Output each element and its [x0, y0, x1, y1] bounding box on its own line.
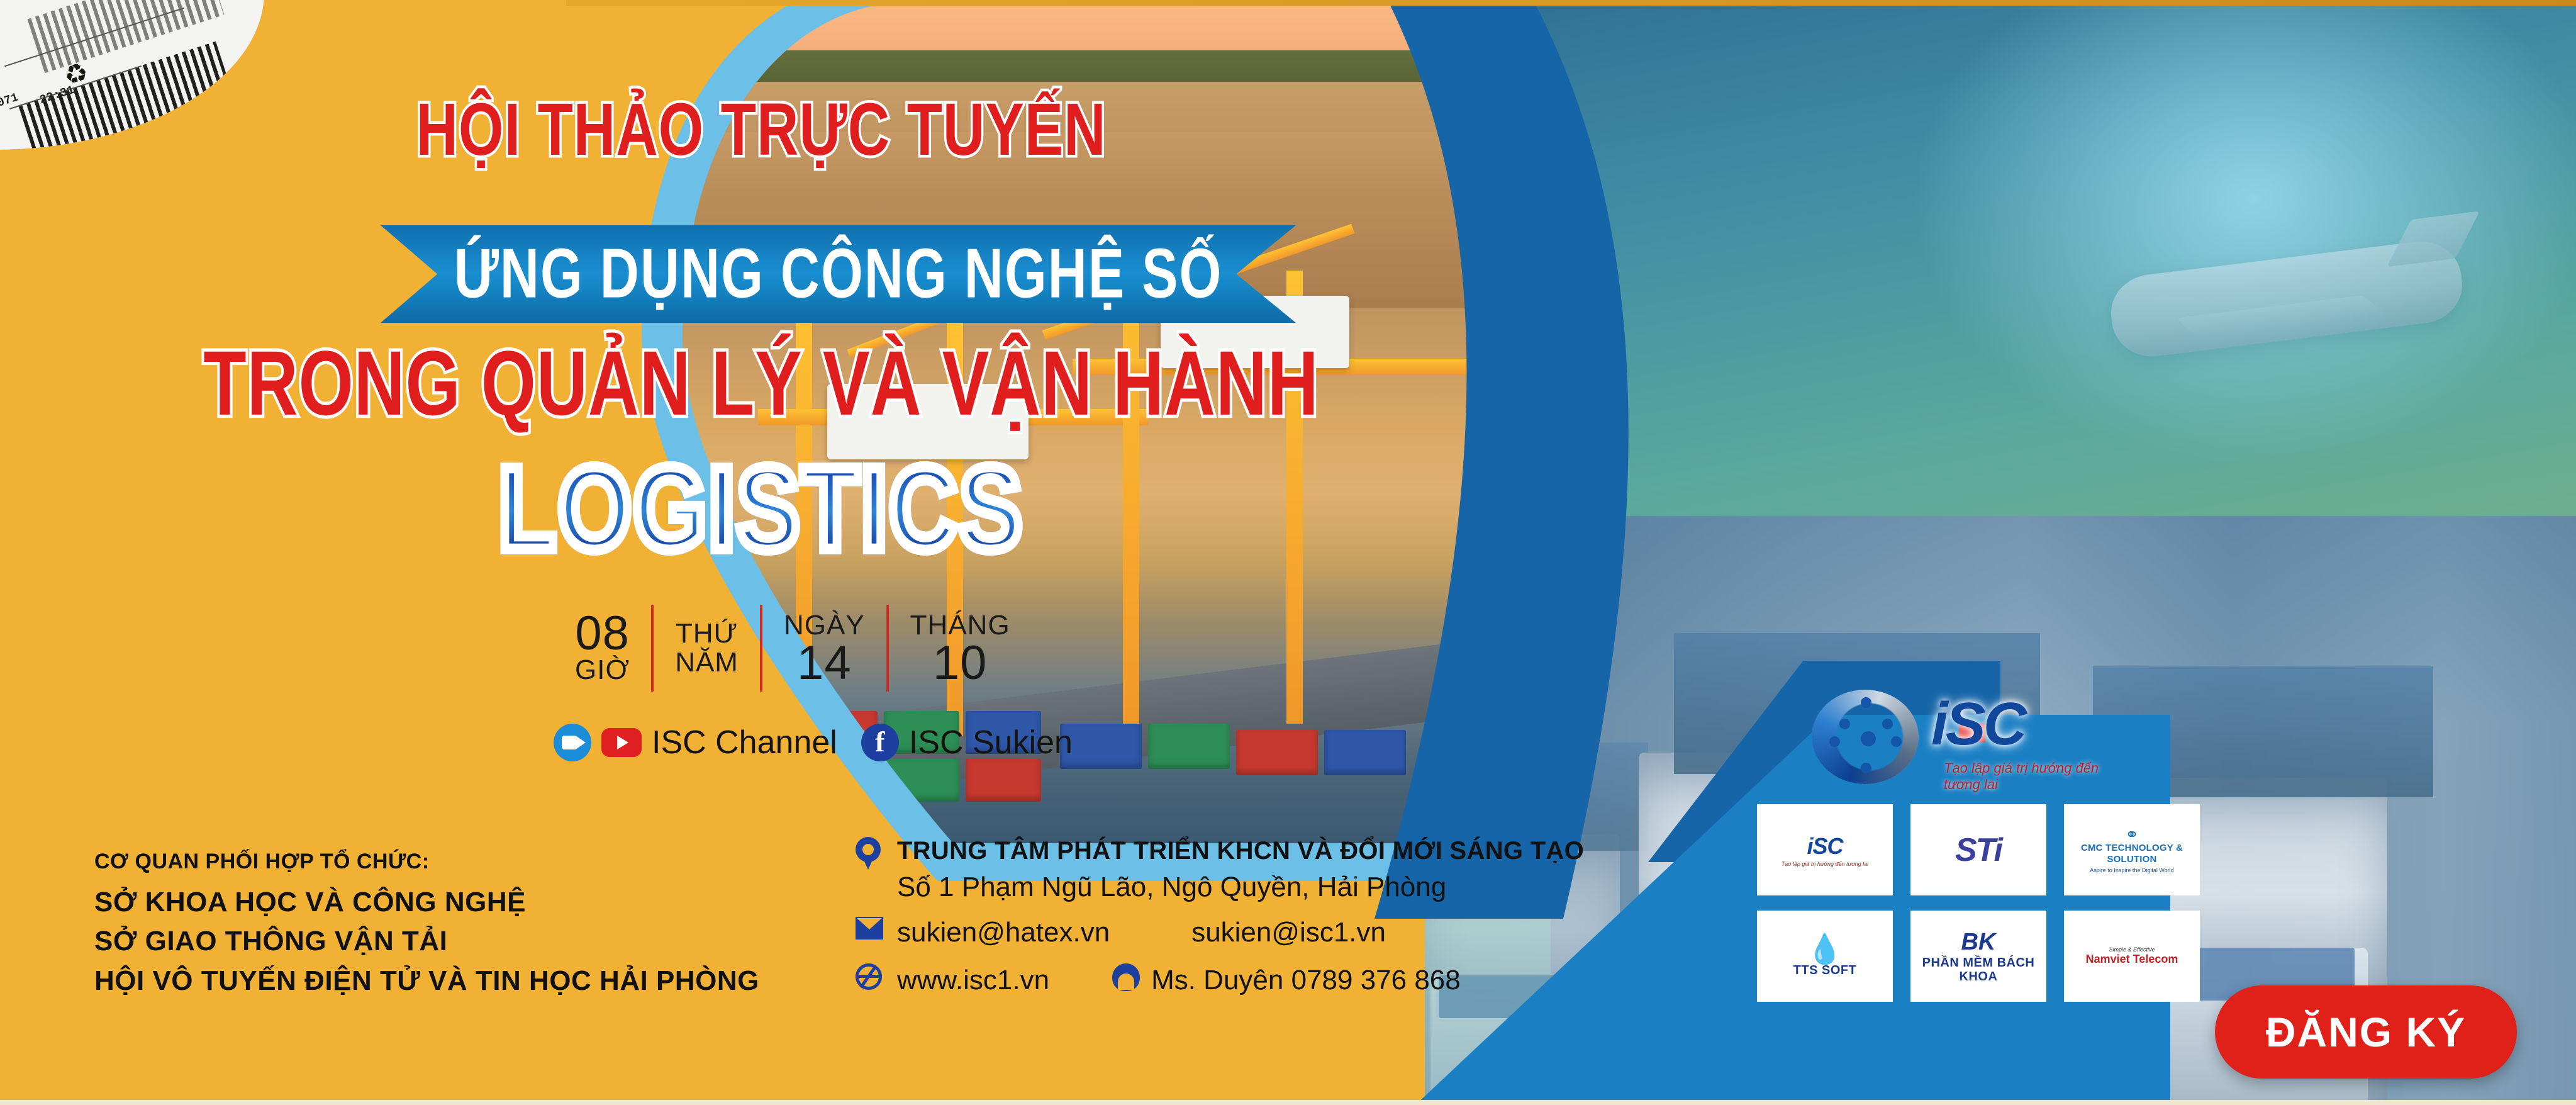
sponsor-card-tts-soft[interactable]: 💧 TTS SOFT	[1757, 911, 1893, 1002]
container	[720, 759, 796, 802]
bach-khoa-logo-mark: BK	[1961, 929, 1996, 956]
container	[966, 759, 1041, 802]
weekday-cell: THỨ NĂM	[654, 601, 760, 695]
ribbon-label: ỨNG DỤNG CÔNG NGHỆ SỐ	[381, 211, 1296, 338]
sponsor-logo-grid: iSC Tạo lập giá trị hướng đến tương lai …	[1757, 804, 2200, 1002]
contact-address: Số 1 Phạm Ngũ Lão, Ngô Quyền, Hải Phòng	[897, 872, 1584, 903]
facebook-page-label[interactable]: ISC Sukien	[909, 724, 1073, 761]
organizers-caption: CƠ QUAN PHỐI HỢP TỔ CHỨC:	[94, 850, 759, 874]
bach-khoa-logo-name: PHẦN MỀM BÁCH KHOA	[1915, 956, 2041, 984]
tts-soft-logo-icon: 💧	[1807, 934, 1843, 963]
envelope-icon	[856, 917, 883, 951]
sponsor-card-cmc[interactable]: ⚭ CMC TECHNOLOGY & SOLUTION Aspire to In…	[2064, 804, 2200, 895]
ribbon-banner: ỨNG DỤNG CÔNG NGHỆ SỐ	[381, 225, 1296, 323]
sponsor-card-isc[interactable]: iSC Tạo lập giá trị hướng đến tương lai	[1757, 804, 1893, 895]
contact-center-name: TRUNG TÂM PHÁT TRIỂN KHCN VÀ ĐỔI MỚI SÁN…	[897, 837, 1584, 865]
sponsor-card-namviet[interactable]: Simple & Effective Namviet Telecom	[2064, 911, 2200, 1002]
bottom-strip	[0, 1100, 2576, 1105]
register-button[interactable]: ĐĂNG KÝ	[2215, 985, 2517, 1079]
isc-logo-tagline: Tạo lập giá trị hướng đến tương lai	[1781, 861, 1868, 867]
namviet-logo-name: Namviet Telecom	[2086, 953, 2178, 966]
container	[1236, 730, 1318, 775]
isc-watermark-logo: iSC Tạo lập giá trị hướng đến tương lai	[1812, 686, 2107, 793]
headline-block: HỘI THẢO TRỰC TUYẾN	[0, 88, 1522, 157]
weekday-line-2: NĂM	[675, 648, 739, 677]
contact-email-1[interactable]: sukien@hatex.vn	[897, 917, 1110, 948]
youtube-channel-label[interactable]: ISC Channel	[652, 724, 837, 761]
organizer-item: SỞ KHOA HỌC VÀ CÔNG NGHỆ	[94, 883, 759, 922]
time-value: 08	[575, 612, 630, 656]
person-icon	[1112, 963, 1140, 997]
social-channels-row: ISC Channel f ISC Sukien	[554, 724, 1086, 761]
isc-wordmark: iSC	[1931, 690, 2024, 759]
contact-web-row: www.isc1.vn Ms. Duyên 0789 376 868	[856, 963, 1584, 997]
event-banner: ♻ 0071 22:31 HỘI THẢO TRỰC TUYẾN ỨNG DỤN…	[0, 0, 2576, 1105]
day-value: 14	[797, 641, 852, 685]
sti-logo: STi	[1955, 831, 2002, 869]
cmc-logo-tagline: Aspire to Inspire the Digital World	[2090, 867, 2173, 873]
isc-tagline: Tạo lập giá trị hướng đến tương lai	[1944, 760, 2107, 793]
contact-block: TRUNG TÂM PHÁT TRIỂN KHCN VÀ ĐỔI MỚI SÁN…	[856, 837, 1584, 1001]
month-cell: THÁNG 10	[889, 601, 1032, 695]
organizers-block: CƠ QUAN PHỐI HỢP TỔ CHỨC: SỞ KHOA HỌC VÀ…	[94, 850, 759, 1001]
namviet-logo-tagline: Simple & Effective	[2109, 946, 2155, 953]
contact-address-row: TRUNG TÂM PHÁT TRIỂN KHCN VÀ ĐỔI MỚI SÁN…	[856, 837, 1584, 903]
container	[1324, 730, 1406, 775]
isc-logo: iSC	[1807, 833, 1843, 860]
cmc-logo-icon: ⚭	[2125, 826, 2139, 843]
month-value: 10	[933, 641, 988, 685]
contact-email-row: sukien@hatex.vn sukien@isc1.vn	[856, 917, 1584, 951]
map-pin-icon	[856, 837, 883, 871]
zoom-icon[interactable]	[554, 724, 591, 761]
time-unit: GIỜ	[575, 656, 630, 685]
weekday-line-1: THỨ	[676, 619, 738, 648]
container	[1148, 724, 1230, 769]
organizer-item: SỞ GIAO THÔNG VẬN TẢI	[94, 922, 759, 961]
headline-main: TRONG QUẢN LÝ VÀ VẬN HÀNH	[0, 330, 1522, 436]
globe-icon	[856, 963, 883, 997]
cmc-logo-name: CMC TECHNOLOGY & SOLUTION	[2069, 843, 2195, 865]
organizer-item: HỘI VÔ TUYẾN ĐIỆN TỬ VÀ TIN HỌC HẢI PHÒN…	[94, 962, 759, 1001]
sponsor-card-bach-khoa[interactable]: BK PHẦN MỀM BÁCH KHOA	[1910, 911, 2046, 1002]
time-cell: 08 GIỜ	[554, 601, 651, 695]
headline-kicker: HỘI THẢO TRỰC TUYẾN	[0, 88, 1522, 172]
event-datetime-strip: 08 GIỜ THỨ NĂM NGÀY 14 THÁNG 10	[554, 601, 1032, 695]
top-gold-strip	[566, 0, 2576, 6]
sponsor-card-sti[interactable]: STi	[1910, 804, 2046, 895]
tts-soft-logo-name: TTS SOFT	[1793, 963, 1857, 977]
day-cell: NGÀY 14	[762, 601, 886, 695]
facebook-icon[interactable]: f	[861, 724, 899, 761]
youtube-icon[interactable]	[601, 728, 642, 757]
headline-subject: LOGISTICS	[0, 440, 1522, 576]
contact-email-2[interactable]: sukien@isc1.vn	[1191, 917, 1386, 948]
contact-website[interactable]: www.isc1.vn	[897, 965, 1049, 996]
contact-person: Ms. Duyên 0789 376 868	[1151, 965, 1461, 996]
